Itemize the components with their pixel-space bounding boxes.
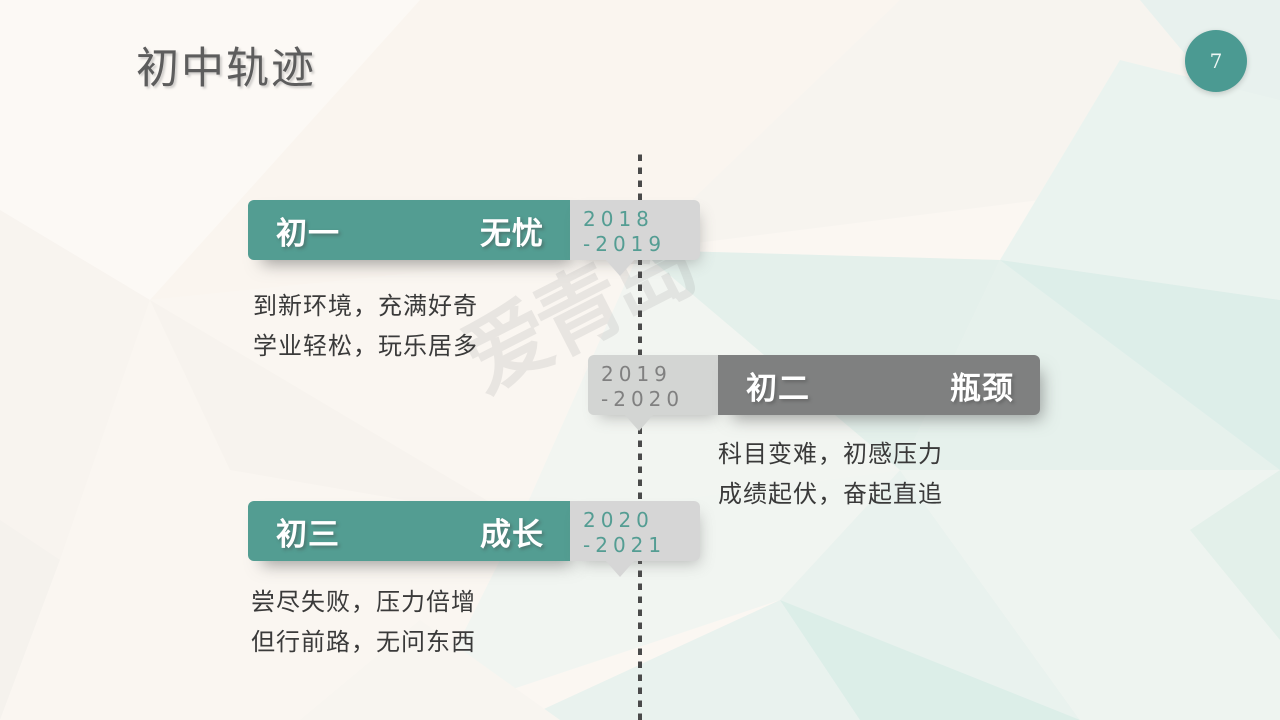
milestone-3-pointer-icon	[605, 560, 635, 577]
milestone-3-bar[interactable]: 初三 成长	[248, 501, 570, 561]
milestone-1-year-box: 2018 -2019	[570, 200, 700, 260]
page-title: 初中轨迹	[136, 34, 316, 96]
milestone-2-pointer-icon	[624, 414, 654, 431]
milestone-1-grade: 初一	[276, 208, 340, 253]
milestone-3-year-box: 2020 -2021	[570, 501, 700, 561]
milestone-1-bar[interactable]: 初一 无忧	[248, 200, 570, 260]
milestone-2-grade: 初二	[746, 363, 810, 408]
page-number-badge: 7	[1185, 30, 1247, 92]
milestone-3-year-start: 2020	[583, 508, 700, 533]
milestone-1-keyword: 无忧	[480, 208, 544, 253]
milestone-2-year-box: 2019 -2020	[588, 355, 718, 415]
milestone-2-year-start: 2019	[601, 362, 718, 387]
milestone-2-keyword: 瓶颈	[950, 363, 1014, 408]
milestone-3-grade: 初三	[276, 509, 340, 554]
milestone-2-year-end: -2020	[601, 387, 718, 412]
timeline-milestone-2[interactable]: 2019 -2020 初二 瓶颈	[588, 355, 1040, 415]
milestone-1-year-start: 2018	[583, 207, 700, 232]
milestone-1-description: 到新环境，充满好奇 学业轻松，玩乐居多	[253, 286, 478, 366]
milestone-1-pointer-icon	[605, 259, 635, 276]
milestone-3-year-end: -2021	[583, 533, 700, 558]
timeline-milestone-1[interactable]: 初一 无忧 2018 -2019	[248, 200, 700, 260]
slide-canvas: 爱青岛 初中轨迹 7 初一 无忧 2018 -2019 到新环境，充满好奇 学业…	[0, 0, 1280, 720]
page-number-label: 7	[1210, 49, 1223, 73]
milestone-2-bar[interactable]: 初二 瓶颈	[718, 355, 1040, 415]
timeline-milestone-3[interactable]: 初三 成长 2020 -2021	[248, 501, 700, 561]
milestone-1-year-end: -2019	[583, 232, 700, 257]
milestone-3-description: 尝尽失败，压力倍增 但行前路，无问东西	[251, 582, 476, 662]
milestone-3-keyword: 成长	[480, 509, 544, 554]
milestone-2-description: 科目变难，初感压力 成绩起伏，奋起直追	[718, 434, 943, 514]
